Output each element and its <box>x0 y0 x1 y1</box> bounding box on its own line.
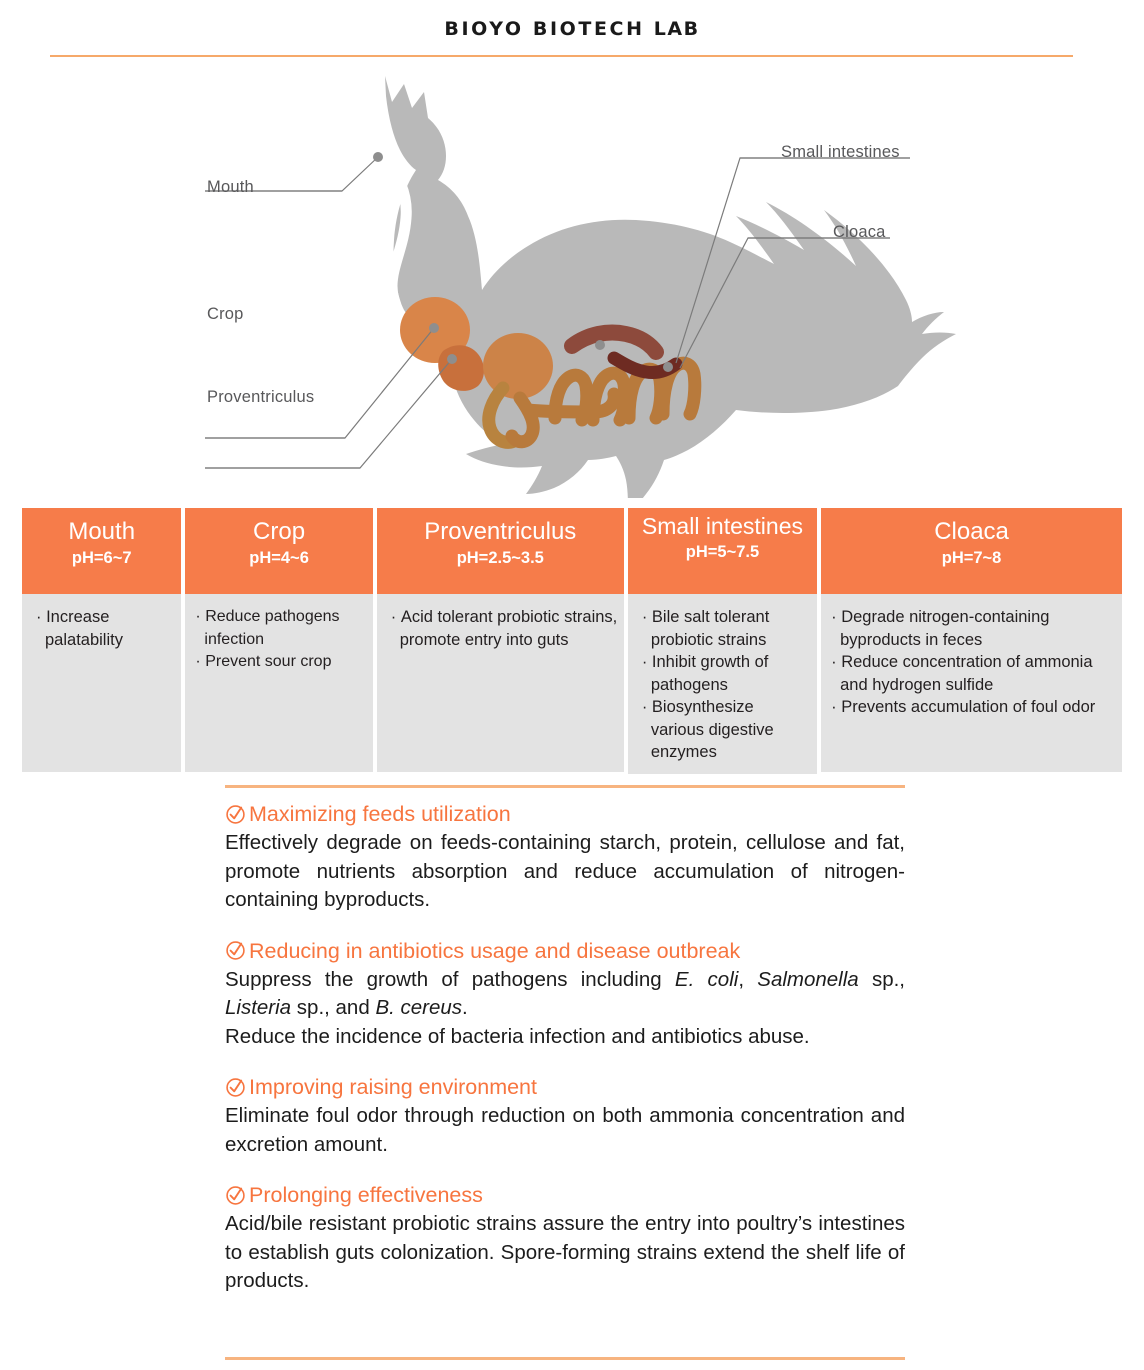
list-item: Reduce concentration of ammonia and hydr… <box>831 651 1116 696</box>
list-item: Bile salt tolerant probiotic strains <box>642 606 811 651</box>
circled-check-icon <box>225 804 246 825</box>
benefit-item: Maximizing feeds utilization Effectively… <box>225 800 905 915</box>
header-divider <box>50 55 1073 57</box>
table-body-cloaca: Degrade nitrogen-containing byproducts i… <box>821 594 1122 772</box>
table-column-proventriculus: Proventriculus pH=2.5~3.5 Acid tolerant … <box>377 508 624 772</box>
benefit-title-text: Improving raising environment <box>249 1073 537 1101</box>
circled-check-icon <box>225 940 246 961</box>
diagram-label-mouth: Mouth <box>207 178 254 197</box>
column-organ-name: Small intestines <box>628 513 817 540</box>
ph-comparison-table: Mouth pH=6~7 Increase palatability Crop … <box>22 508 1122 774</box>
poultry-diagram-svg <box>0 68 1144 498</box>
benefit-body-text: Suppress the growth of pathogens includi… <box>225 966 905 1052</box>
dot-cloaca <box>663 362 673 372</box>
column-organ-name: Cloaca <box>821 517 1122 546</box>
list-item: Biosynthesize various digestive enzymes <box>642 696 811 764</box>
benefit-text-mid: sp., <box>859 968 905 991</box>
column-ph-value: pH=7~8 <box>821 547 1122 569</box>
gizzard-organ <box>483 333 553 399</box>
dot-crop <box>429 323 439 333</box>
benefit-title-row: Reducing in antibiotics usage and diseas… <box>225 937 905 965</box>
table-column-small-intestines: Small intestines pH=5~7.5 Bile salt tole… <box>628 508 817 774</box>
table-header-crop: Crop pH=4~6 <box>185 508 372 594</box>
benefit-title-text: Prolonging effectiveness <box>249 1181 483 1209</box>
benefit-text-mid: sp., and <box>291 996 375 1019</box>
column-ph-value: pH=2.5~3.5 <box>377 547 624 569</box>
benefit-body-text: Effectively degrade on feeds-containing … <box>225 829 905 915</box>
list-item: Increase palatability <box>36 606 175 651</box>
column-organ-name: Proventriculus <box>377 517 624 546</box>
column-ph-value: pH=4~6 <box>185 547 372 569</box>
dot-small-intestines <box>595 340 605 350</box>
dot-mouth <box>373 152 383 162</box>
table-body-small-intestines: Bile salt tolerant probiotic strains Inh… <box>628 594 817 774</box>
benefit-title-row: Prolonging effectiveness <box>225 1181 905 1209</box>
benefit-text-post: . <box>462 996 468 1019</box>
list-item: Prevents accumulation of foul odor <box>831 696 1116 719</box>
chicken-silhouette-icon <box>385 76 956 498</box>
benefits-section: Maximizing feeds utilization Effectively… <box>225 800 905 1296</box>
list-item: Acid tolerant probiotic strains, promote… <box>391 606 618 651</box>
column-ph-value: pH=5~7.5 <box>628 541 817 563</box>
column-organ-name: Crop <box>185 517 372 546</box>
table-body-mouth: Increase palatability <box>22 594 181 772</box>
table-header-mouth: Mouth pH=6~7 <box>22 508 181 594</box>
benefit-title-text: Reducing in antibiotics usage and diseas… <box>249 937 740 965</box>
brand-title: BIOYO BIOTECH LAB <box>0 18 1144 40</box>
benefit-title-row: Maximizing feeds utilization <box>225 800 905 828</box>
benefit-item: Reducing in antibiotics usage and diseas… <box>225 937 905 1052</box>
benefit-text-line2: Reduce the incidence of bacteria infecti… <box>225 1025 810 1048</box>
list-item: Reduce pathogens infection <box>195 606 366 651</box>
diagram-label-cloaca: Cloaca <box>833 223 886 242</box>
benefit-text-pre: Suppress the growth of pathogens includi… <box>225 968 675 991</box>
benefit-item: Improving raising environment Eliminate … <box>225 1073 905 1159</box>
list-item: Degrade nitrogen-containing byproducts i… <box>831 606 1116 651</box>
table-column-cloaca: Cloaca pH=7~8 Degrade nitrogen-containin… <box>821 508 1122 772</box>
table-column-mouth: Mouth pH=6~7 Increase palatability <box>22 508 181 772</box>
benefit-title-text: Maximizing feeds utilization <box>249 800 511 828</box>
poultry-diagram: Mouth Crop Proventriculus Small intestin… <box>0 68 1144 498</box>
benefit-body-text: Acid/bile resistant probiotic strains as… <box>225 1210 905 1296</box>
table-column-crop: Crop pH=4~6 Reduce pathogens infection P… <box>185 508 372 772</box>
diagram-label-crop: Crop <box>207 305 244 324</box>
diagram-label-small-intestines: Small intestines <box>781 143 900 162</box>
table-body-crop: Reduce pathogens infection Prevent sour … <box>185 594 372 772</box>
benefit-item: Prolonging effectiveness Acid/bile resis… <box>225 1181 905 1296</box>
table-header-cloaca: Cloaca pH=7~8 <box>821 508 1122 594</box>
dot-proventriculus <box>447 354 457 364</box>
list-item: Prevent sour crop <box>195 651 366 674</box>
benefits-top-divider <box>225 785 905 788</box>
brand-lab: LAB <box>654 18 700 40</box>
benefit-text-mid: , <box>738 968 757 991</box>
benefit-title-row: Improving raising environment <box>225 1073 905 1101</box>
circled-check-icon <box>225 1185 246 1206</box>
benefit-body-text: Eliminate foul odor through reduction on… <box>225 1102 905 1159</box>
species-name: Listeria <box>225 996 291 1019</box>
species-name: E. coli <box>675 968 738 991</box>
species-name: Salmonella <box>757 968 858 991</box>
table-body-proventriculus: Acid tolerant probiotic strains, promote… <box>377 594 624 772</box>
circled-check-icon <box>225 1077 246 1098</box>
page-header: BIOYO BIOTECH LAB <box>0 18 1144 40</box>
column-organ-name: Mouth <box>22 517 181 546</box>
species-name: B. cereus <box>375 996 462 1019</box>
table-header-small-intestines: Small intestines pH=5~7.5 <box>628 508 817 594</box>
benefits-bottom-divider <box>225 1357 905 1360</box>
column-ph-value: pH=6~7 <box>22 547 181 569</box>
diagram-label-proventriculus: Proventriculus <box>207 388 314 407</box>
leader-line-proventriculus <box>205 359 452 468</box>
list-item: Inhibit growth of pathogens <box>642 651 811 696</box>
brand-name: BIOYO BIOTECH <box>444 18 653 40</box>
table-header-proventriculus: Proventriculus pH=2.5~3.5 <box>377 508 624 594</box>
